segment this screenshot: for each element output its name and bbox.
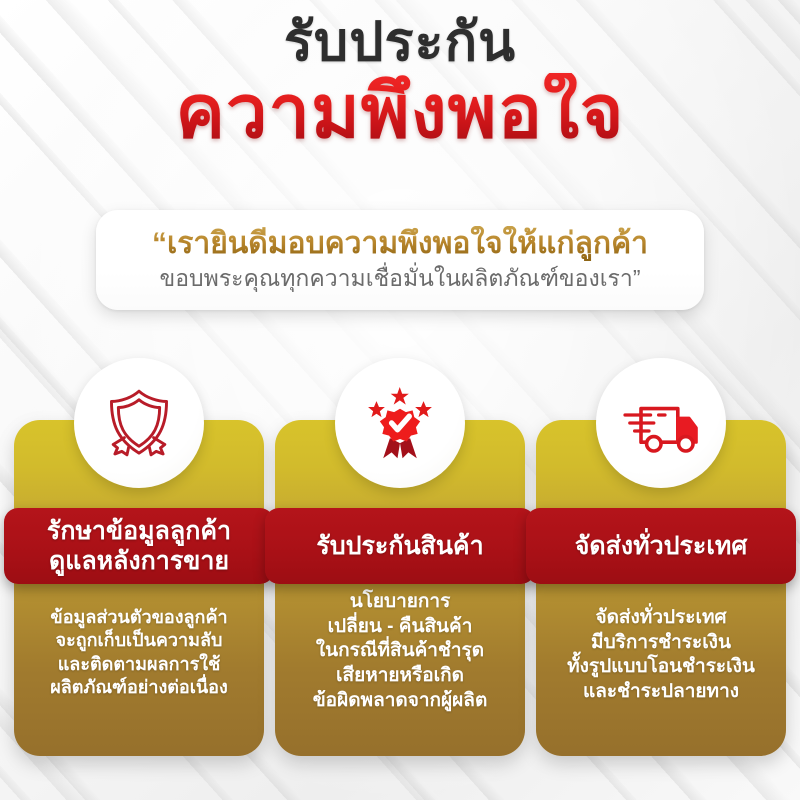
feature-card-product-warranty[interactable]: รับประกันสินค้า นโยบายการ เปลี่ยน - คืนส… — [275, 420, 525, 756]
headline-secondary: ความพึงพอใจ — [0, 73, 800, 151]
card-description-line: ข้อผิดพลาดจากผู้ผลิต — [285, 689, 515, 714]
quote-card: “เรายินดีมอบความพึงพอใจให้แก่ลูกค้า ขอบพ… — [96, 210, 704, 310]
card-description: ข้อมูลส่วนตัวของลูกค้า จะถูกเก็บเป็นความ… — [14, 606, 264, 700]
card-title: รักษาข้อมูลลูกค้าดูแลหลังการขาย — [37, 510, 241, 583]
feature-card-customer-data[interactable]: รักษาข้อมูลลูกค้าดูแลหลังการขาย ข้อมูลส่… — [14, 420, 264, 756]
quote-line-primary: “เรายินดีมอบความพึงพอใจให้แก่ลูกค้า — [152, 226, 648, 261]
card-description-line: เปลี่ยน - คืนสินค้า — [285, 615, 515, 640]
card-description-line: ในกรณีที่สินค้าชำรุด — [285, 639, 515, 664]
card-title: จัดส่งทั่วประเทศ — [565, 525, 758, 568]
headline-primary: รับประกัน — [0, 14, 800, 71]
card-banner: รับประกันสินค้า — [265, 508, 535, 584]
feature-card-nationwide-delivery[interactable]: จัดส่งทั่วประเทศ จัดส่งทั่วประเทศ มีบริก… — [536, 420, 786, 756]
card-description-line: ทั้งรูปแบบโอนชำระเงิน — [546, 655, 776, 680]
feature-cards-row: รักษาข้อมูลลูกค้าดูแลหลังการขาย ข้อมูลส่… — [0, 420, 800, 756]
card-description-line: จัดส่งทั่วประเทศ — [546, 606, 776, 631]
card-description-line: ข้อมูลส่วนตัวของลูกค้า — [24, 606, 254, 629]
card-description-line: จะถูกเก็บเป็นความลับ — [24, 629, 254, 652]
card-description-line: และติดตามผลการใช้ — [24, 653, 254, 676]
card-description-line: มีบริการชำระเงิน — [546, 631, 776, 656]
card-description-line: เสียหายหรือเกิด — [285, 664, 515, 689]
card-banner: รักษาข้อมูลลูกค้าดูแลหลังการขาย — [4, 508, 274, 584]
delivery-truck-icon — [596, 358, 726, 488]
card-banner: จัดส่งทั่วประเทศ — [526, 508, 796, 584]
quality-badge-icon — [335, 358, 465, 488]
card-description: จัดส่งทั่วประเทศ มีบริการชำระเงิน ทั้งรู… — [536, 606, 786, 705]
card-title: รับประกันสินค้า — [306, 525, 493, 568]
shield-icon — [74, 358, 204, 488]
card-description-line: ผลิตภัณฑ์อย่างต่อเนื่อง — [24, 676, 254, 699]
quote-line-secondary: ขอบพระคุณทุกความเชื่อมั่นในผลิตภัณฑ์ของเ… — [160, 264, 641, 294]
card-description: นโยบายการ เปลี่ยน - คืนสินค้า ในกรณีที่ส… — [275, 590, 525, 713]
card-description-line: นโยบายการ — [285, 590, 515, 615]
poster-header: รับประกัน ความพึงพอใจ — [0, 14, 800, 150]
card-description-line: และชำระปลายทาง — [546, 680, 776, 705]
poster-canvas: รับประกัน ความพึงพอใจ “เรายินดีมอบความพึ… — [0, 0, 800, 800]
